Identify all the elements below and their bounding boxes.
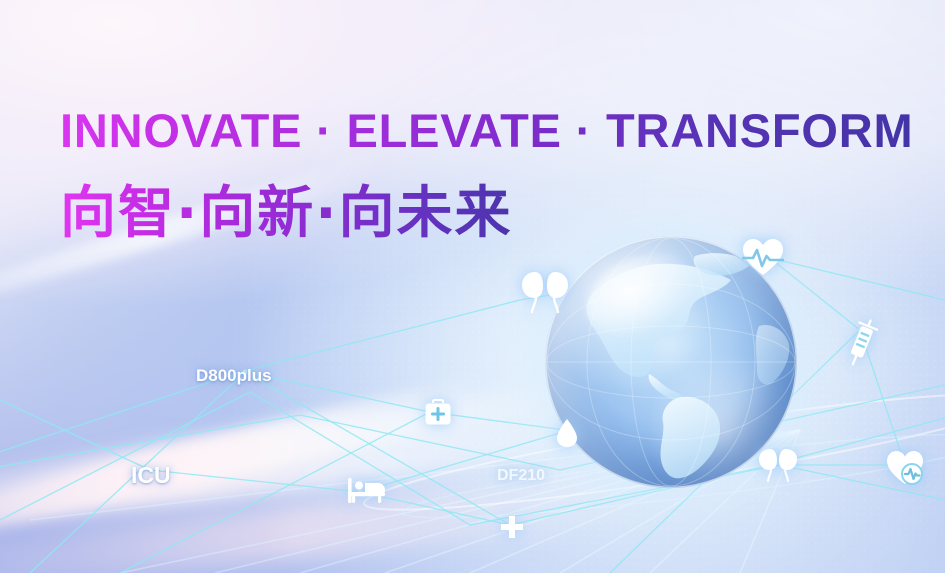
heart-monitor-icon — [886, 450, 924, 486]
page-title: INNOVATE · ELEVATE · TRANSFORM — [60, 103, 913, 158]
medical-cross-icon — [500, 515, 524, 539]
hospital-bed-icon — [347, 477, 387, 504]
background-light-swoosh — [0, 310, 945, 560]
kidneys-icon — [757, 448, 799, 482]
medical-kit-icon — [424, 399, 452, 426]
product-label-df210: DF210 — [497, 467, 545, 485]
heart-pulse-icon — [742, 238, 784, 276]
background-light-swoosh — [0, 247, 945, 573]
promotional-banner: INNOVATE · ELEVATE · TRANSFORM 向智·向新·向未来… — [0, 0, 945, 573]
kidneys-icon — [519, 270, 571, 316]
background-light-swoosh — [0, 429, 945, 573]
page-subtitle: 向智·向新·向未来 — [60, 168, 513, 249]
product-label-icu: ICU — [131, 462, 171, 489]
product-label-d800plus: D800plus — [196, 366, 272, 386]
syringe-icon — [845, 318, 879, 368]
blood-drop-icon — [556, 418, 578, 448]
